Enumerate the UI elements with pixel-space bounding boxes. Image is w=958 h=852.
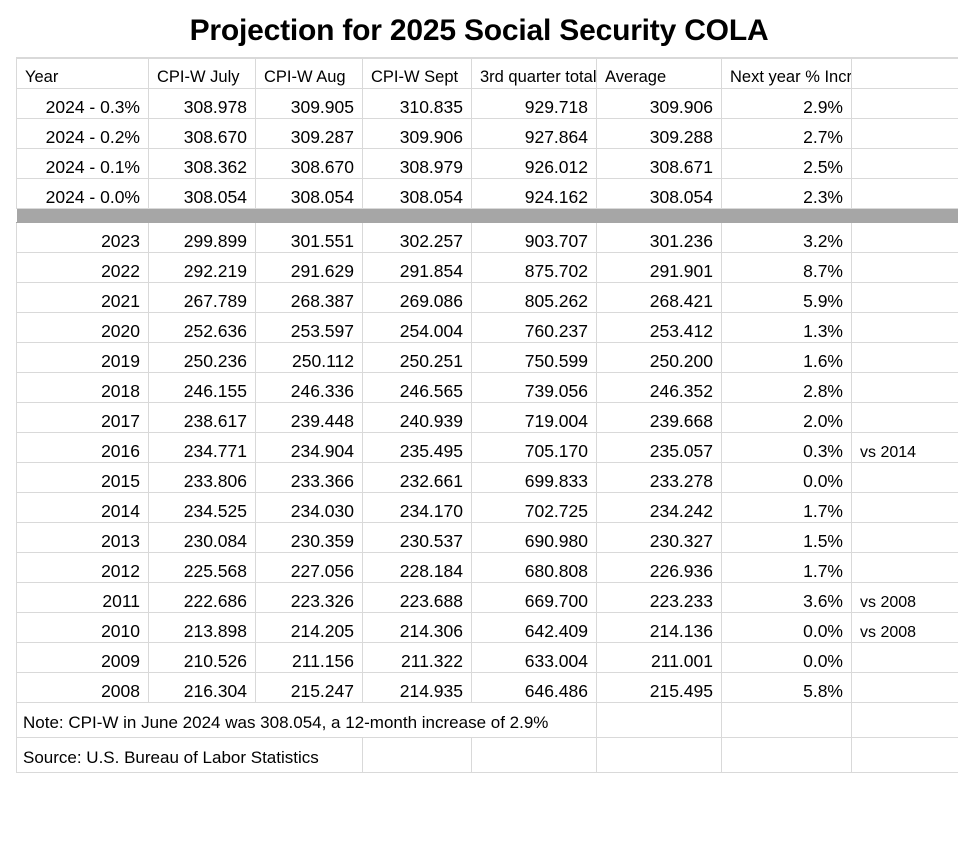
cell-cpi-july[interactable]: 299.899 [149, 223, 256, 253]
cell-cpi-sept[interactable]: 291.854 [363, 253, 472, 283]
cell-annotation[interactable] [852, 463, 958, 493]
table-row: 2008216.304215.247214.935646.486215.4955… [17, 673, 958, 703]
table-row: 2017238.617239.448240.939719.004239.6682… [17, 403, 958, 433]
table-row: 2024 - 0.3%308.978309.905310.835929.7183… [17, 89, 958, 119]
cell-next-year-increase[interactable]: 2.5% [722, 149, 852, 179]
cell-annotation[interactable] [852, 149, 958, 179]
footnote-note[interactable]: Note: CPI-W in June 2024 was 308.054, a … [17, 703, 597, 738]
cell-next-year-increase[interactable]: 1.5% [722, 523, 852, 553]
cell-cpi-july[interactable]: 216.304 [149, 673, 256, 703]
table-row: 2023299.899301.551302.257903.707301.2363… [17, 223, 958, 253]
cell-cpi-july[interactable]: 230.084 [149, 523, 256, 553]
cell-third-quarter-total[interactable]: 702.725 [472, 493, 597, 523]
cell-cpi-july[interactable]: 222.686 [149, 583, 256, 613]
cell-average[interactable]: 291.901 [597, 253, 722, 283]
cell-cpi-aug[interactable]: 268.387 [256, 283, 363, 313]
cell-third-quarter-total[interactable]: 705.170 [472, 433, 597, 463]
cell-annotation[interactable]: vs 2008 [852, 613, 958, 643]
footnote-source[interactable]: Source: U.S. Bureau of Labor Statistics [17, 738, 363, 773]
cell-year[interactable]: 2013 [17, 523, 149, 553]
cell-third-quarter-total[interactable]: 669.700 [472, 583, 597, 613]
cell-annotation[interactable] [852, 523, 958, 553]
section-separator [17, 209, 958, 223]
cell-cpi-july[interactable]: 308.670 [149, 119, 256, 149]
footnote-row: Note: CPI-W in June 2024 was 308.054, a … [17, 703, 958, 738]
column-header-year[interactable]: Year [17, 58, 149, 89]
cell-average[interactable]: 235.057 [597, 433, 722, 463]
cell-cpi-aug[interactable]: 309.287 [256, 119, 363, 149]
cell-cpi-sept[interactable]: 214.935 [363, 673, 472, 703]
cell-cpi-july[interactable]: 225.568 [149, 553, 256, 583]
cell-average[interactable]: 308.054 [597, 179, 722, 209]
cell-average[interactable]: 211.001 [597, 643, 722, 673]
cell-next-year-increase[interactable]: 1.3% [722, 313, 852, 343]
cell-third-quarter-total[interactable]: 760.237 [472, 313, 597, 343]
cell-average[interactable]: 234.242 [597, 493, 722, 523]
cell-year[interactable]: 2011 [17, 583, 149, 613]
table-row: 2011222.686223.326223.688669.700223.2333… [17, 583, 958, 613]
cell-annotation[interactable] [852, 253, 958, 283]
cell-cpi-aug[interactable]: 233.366 [256, 463, 363, 493]
cell-cpi-aug[interactable]: 211.156 [256, 643, 363, 673]
cell-year[interactable]: 2009 [17, 643, 149, 673]
cell-annotation[interactable] [852, 403, 958, 433]
cell-next-year-increase[interactable]: 1.7% [722, 553, 852, 583]
cell-cpi-sept[interactable]: 211.322 [363, 643, 472, 673]
cell-cpi-sept[interactable]: 309.906 [363, 119, 472, 149]
footnote-empty-cell[interactable] [722, 703, 852, 738]
cell-next-year-increase[interactable]: 0.0% [722, 643, 852, 673]
cell-cpi-july[interactable]: 308.978 [149, 89, 256, 119]
cell-next-year-increase[interactable]: 1.6% [722, 343, 852, 373]
cell-next-year-increase[interactable]: 3.6% [722, 583, 852, 613]
table-row: 2024 - 0.0%308.054308.054308.054924.1623… [17, 179, 958, 209]
table-row: 2016234.771234.904235.495705.170235.0570… [17, 433, 958, 463]
cell-cpi-aug[interactable]: 250.112 [256, 343, 363, 373]
cell-cpi-july[interactable]: 308.362 [149, 149, 256, 179]
cell-annotation[interactable] [852, 179, 958, 209]
footnote-empty-cell[interactable] [597, 738, 722, 773]
cell-next-year-increase[interactable]: 8.7% [722, 253, 852, 283]
cell-cpi-sept[interactable]: 254.004 [363, 313, 472, 343]
cell-cpi-sept[interactable]: 302.257 [363, 223, 472, 253]
cell-annotation[interactable] [852, 223, 958, 253]
cell-cpi-sept[interactable]: 228.184 [363, 553, 472, 583]
cell-average[interactable]: 223.233 [597, 583, 722, 613]
table-row: 2020252.636253.597254.004760.237253.4121… [17, 313, 958, 343]
column-header-july[interactable]: CPI-W July [149, 58, 256, 89]
cola-projection-table: Year CPI-W July CPI-W Aug CPI-W Sept 3rd… [16, 57, 958, 773]
cell-next-year-increase[interactable]: 5.8% [722, 673, 852, 703]
cell-third-quarter-total[interactable]: 929.718 [472, 89, 597, 119]
cell-average[interactable]: 308.671 [597, 149, 722, 179]
cell-third-quarter-total[interactable]: 875.702 [472, 253, 597, 283]
cell-cpi-july[interactable]: 233.806 [149, 463, 256, 493]
table-row: 2010213.898214.205214.306642.409214.1360… [17, 613, 958, 643]
cell-third-quarter-total[interactable]: 924.162 [472, 179, 597, 209]
cell-third-quarter-total[interactable]: 699.833 [472, 463, 597, 493]
table-row: 2012225.568227.056228.184680.808226.9361… [17, 553, 958, 583]
cell-average[interactable]: 301.236 [597, 223, 722, 253]
cell-year[interactable]: 2014 [17, 493, 149, 523]
table-row: 2013230.084230.359230.537690.980230.3271… [17, 523, 958, 553]
cell-average[interactable]: 253.412 [597, 313, 722, 343]
footnote-empty-cell[interactable] [852, 703, 958, 738]
footnote-empty-cell[interactable] [852, 738, 958, 773]
cell-cpi-aug[interactable]: 223.326 [256, 583, 363, 613]
cell-year[interactable]: 2019 [17, 343, 149, 373]
cell-average[interactable]: 268.421 [597, 283, 722, 313]
cell-cpi-sept[interactable]: 310.835 [363, 89, 472, 119]
table-row: 2024 - 0.2%308.670309.287309.906927.8643… [17, 119, 958, 149]
cell-third-quarter-total[interactable]: 690.980 [472, 523, 597, 553]
cell-cpi-july[interactable]: 234.771 [149, 433, 256, 463]
cell-cpi-aug[interactable]: 227.056 [256, 553, 363, 583]
cell-year[interactable]: 2024 - 0.1% [17, 149, 149, 179]
cell-third-quarter-total[interactable]: 927.864 [472, 119, 597, 149]
page-title: Projection for 2025 Social Security COLA [0, 0, 958, 57]
table-row: 2009210.526211.156211.322633.004211.0010… [17, 643, 958, 673]
column-header-aug[interactable]: CPI-W Aug [256, 58, 363, 89]
cell-cpi-july[interactable]: 308.054 [149, 179, 256, 209]
cell-average[interactable]: 233.278 [597, 463, 722, 493]
cell-year[interactable]: 2015 [17, 463, 149, 493]
cell-annotation[interactable] [852, 89, 958, 119]
cell-cpi-sept[interactable]: 246.565 [363, 373, 472, 403]
cell-annotation[interactable] [852, 119, 958, 149]
cell-average[interactable]: 309.906 [597, 89, 722, 119]
footnote-empty-cell[interactable] [472, 738, 597, 773]
cell-year[interactable]: 2022 [17, 253, 149, 283]
cell-average[interactable]: 309.288 [597, 119, 722, 149]
cell-annotation[interactable] [852, 373, 958, 403]
cell-cpi-aug[interactable]: 214.205 [256, 613, 363, 643]
cell-cpi-july[interactable]: 213.898 [149, 613, 256, 643]
cell-next-year-increase[interactable]: 0.3% [722, 433, 852, 463]
table-row: 2014234.525234.030234.170702.725234.2421… [17, 493, 958, 523]
cell-year[interactable]: 2008 [17, 673, 149, 703]
cell-next-year-increase[interactable]: 2.0% [722, 403, 852, 433]
cell-year[interactable]: 2010 [17, 613, 149, 643]
cell-year[interactable]: 2021 [17, 283, 149, 313]
column-header-third-quarter-total[interactable]: 3rd quarter total [472, 58, 597, 89]
table-row: 2015233.806233.366232.661699.833233.2780… [17, 463, 958, 493]
cell-annotation[interactable] [852, 643, 958, 673]
cell-cpi-sept[interactable]: 250.251 [363, 343, 472, 373]
cell-average[interactable]: 230.327 [597, 523, 722, 553]
cell-cpi-aug[interactable]: 230.359 [256, 523, 363, 553]
cell-next-year-increase[interactable]: 5.9% [722, 283, 852, 313]
cell-third-quarter-total[interactable]: 926.012 [472, 149, 597, 179]
cell-annotation[interactable] [852, 313, 958, 343]
cell-cpi-aug[interactable]: 308.670 [256, 149, 363, 179]
cell-average[interactable]: 226.936 [597, 553, 722, 583]
cell-third-quarter-total[interactable]: 646.486 [472, 673, 597, 703]
cell-cpi-aug[interactable]: 215.247 [256, 673, 363, 703]
cell-third-quarter-total[interactable]: 739.056 [472, 373, 597, 403]
cell-cpi-aug[interactable]: 234.904 [256, 433, 363, 463]
column-header-average[interactable]: Average [597, 58, 722, 89]
cell-third-quarter-total[interactable]: 633.004 [472, 643, 597, 673]
cell-cpi-july[interactable]: 238.617 [149, 403, 256, 433]
cell-cpi-aug[interactable]: 234.030 [256, 493, 363, 523]
cell-year[interactable]: 2018 [17, 373, 149, 403]
cell-cpi-sept[interactable]: 308.979 [363, 149, 472, 179]
cell-cpi-aug[interactable]: 309.905 [256, 89, 363, 119]
cell-cpi-july[interactable]: 267.789 [149, 283, 256, 313]
cell-year[interactable]: 2020 [17, 313, 149, 343]
cell-cpi-sept[interactable]: 214.306 [363, 613, 472, 643]
footnote-row: Source: U.S. Bureau of Labor Statistics [17, 738, 958, 773]
cell-next-year-increase[interactable]: 2.3% [722, 179, 852, 209]
cell-third-quarter-total[interactable]: 805.262 [472, 283, 597, 313]
table-row: 2022292.219291.629291.854875.702291.9018… [17, 253, 958, 283]
cell-cpi-sept[interactable]: 240.939 [363, 403, 472, 433]
table-header: Year CPI-W July CPI-W Aug CPI-W Sept 3rd… [17, 58, 958, 89]
cell-annotation[interactable] [852, 673, 958, 703]
cell-cpi-sept[interactable]: 223.688 [363, 583, 472, 613]
cell-year[interactable]: 2012 [17, 553, 149, 583]
table-row: 2018246.155246.336246.565739.056246.3522… [17, 373, 958, 403]
cell-cpi-sept[interactable]: 232.661 [363, 463, 472, 493]
cell-annotation[interactable] [852, 553, 958, 583]
cell-cpi-aug[interactable]: 308.054 [256, 179, 363, 209]
cell-third-quarter-total[interactable]: 750.599 [472, 343, 597, 373]
cell-cpi-aug[interactable]: 253.597 [256, 313, 363, 343]
cell-third-quarter-total[interactable]: 903.707 [472, 223, 597, 253]
cell-average[interactable]: 250.200 [597, 343, 722, 373]
cell-average[interactable]: 246.352 [597, 373, 722, 403]
cell-year[interactable]: 2017 [17, 403, 149, 433]
footnote-empty-cell[interactable] [363, 738, 472, 773]
table-row: 2019250.236250.112250.251750.599250.2001… [17, 343, 958, 373]
cell-cpi-sept[interactable]: 234.170 [363, 493, 472, 523]
cell-cpi-aug[interactable]: 246.336 [256, 373, 363, 403]
cell-cpi-july[interactable]: 252.636 [149, 313, 256, 343]
cell-cpi-sept[interactable]: 269.086 [363, 283, 472, 313]
cell-year[interactable]: 2023 [17, 223, 149, 253]
cell-next-year-increase[interactable]: 0.0% [722, 613, 852, 643]
cell-next-year-increase[interactable]: 2.7% [722, 119, 852, 149]
cell-average[interactable]: 215.495 [597, 673, 722, 703]
column-header-sept[interactable]: CPI-W Sept [363, 58, 472, 89]
table-body: 2024 - 0.3%308.978309.905310.835929.7183… [17, 89, 958, 773]
header-row: Year CPI-W July CPI-W Aug CPI-W Sept 3rd… [17, 58, 958, 89]
cell-year[interactable]: 2024 - 0.2% [17, 119, 149, 149]
cell-cpi-aug[interactable]: 301.551 [256, 223, 363, 253]
cell-average[interactable]: 239.668 [597, 403, 722, 433]
cell-year[interactable]: 2016 [17, 433, 149, 463]
section-separator-band [17, 209, 958, 223]
table-row: 2024 - 0.1%308.362308.670308.979926.0123… [17, 149, 958, 179]
cell-year[interactable]: 2024 - 0.3% [17, 89, 149, 119]
footnote-empty-cell[interactable] [597, 703, 722, 738]
cell-annotation[interactable] [852, 283, 958, 313]
cell-cpi-july[interactable]: 210.526 [149, 643, 256, 673]
cell-next-year-increase[interactable]: 0.0% [722, 463, 852, 493]
cell-next-year-increase[interactable]: 3.2% [722, 223, 852, 253]
cell-cpi-july[interactable]: 246.155 [149, 373, 256, 403]
cell-year[interactable]: 2024 - 0.0% [17, 179, 149, 209]
cell-cpi-july[interactable]: 250.236 [149, 343, 256, 373]
cell-next-year-increase[interactable]: 1.7% [722, 493, 852, 523]
column-header-next-year-increase[interactable]: Next year % Increase [722, 58, 852, 89]
table-row: 2021267.789268.387269.086805.262268.4215… [17, 283, 958, 313]
cell-third-quarter-total[interactable]: 719.004 [472, 403, 597, 433]
cell-average[interactable]: 214.136 [597, 613, 722, 643]
cell-annotation[interactable]: vs 2008 [852, 583, 958, 613]
footnote-empty-cell[interactable] [722, 738, 852, 773]
column-header-annotation[interactable] [852, 58, 958, 89]
cell-annotation[interactable] [852, 493, 958, 523]
cell-third-quarter-total[interactable]: 680.808 [472, 553, 597, 583]
cell-cpi-sept[interactable]: 308.054 [363, 179, 472, 209]
cell-cpi-aug[interactable]: 239.448 [256, 403, 363, 433]
cell-cpi-july[interactable]: 234.525 [149, 493, 256, 523]
cell-annotation[interactable]: vs 2014 [852, 433, 958, 463]
cell-next-year-increase[interactable]: 2.9% [722, 89, 852, 119]
cell-third-quarter-total[interactable]: 642.409 [472, 613, 597, 643]
cell-cpi-aug[interactable]: 291.629 [256, 253, 363, 283]
cell-cpi-july[interactable]: 292.219 [149, 253, 256, 283]
cell-cpi-sept[interactable]: 230.537 [363, 523, 472, 553]
cell-cpi-sept[interactable]: 235.495 [363, 433, 472, 463]
spreadsheet-page: Projection for 2025 Social Security COLA… [0, 0, 958, 852]
cell-annotation[interactable] [852, 343, 958, 373]
cell-next-year-increase[interactable]: 2.8% [722, 373, 852, 403]
